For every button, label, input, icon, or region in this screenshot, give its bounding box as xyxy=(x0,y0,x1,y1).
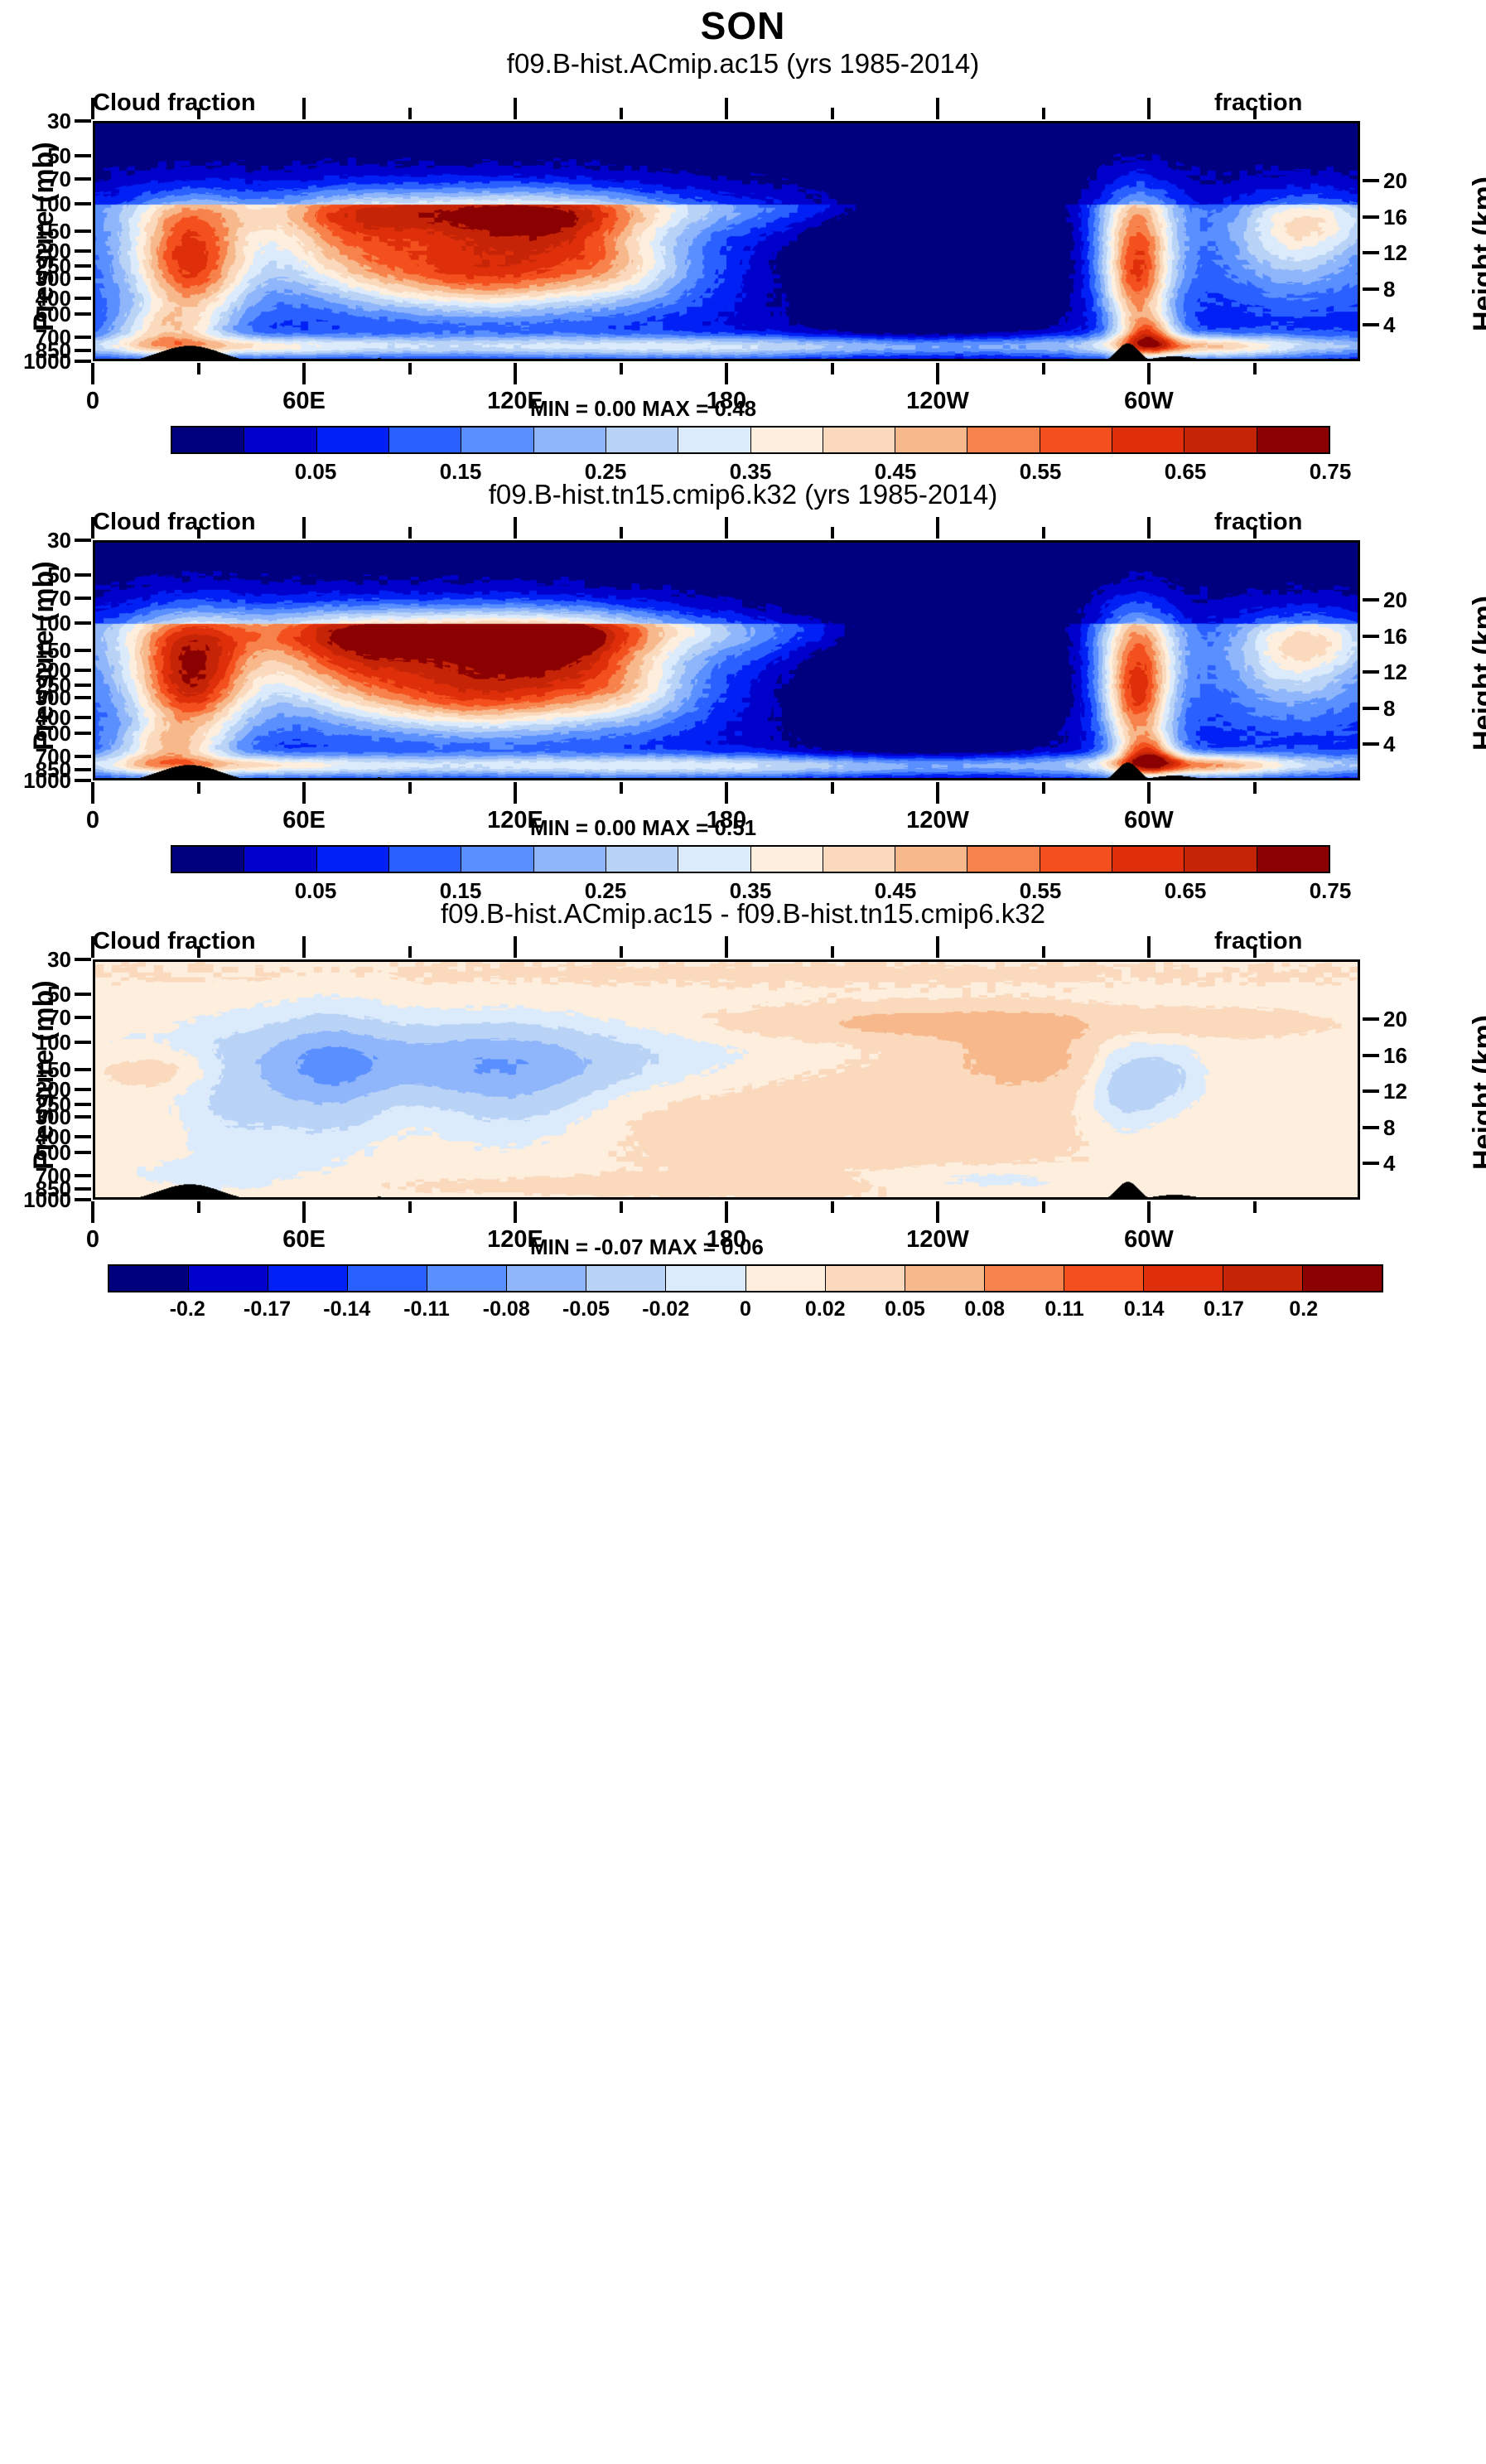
y-tick-mark xyxy=(75,119,91,123)
x-minor-tick-top xyxy=(620,527,623,539)
y-tick-mark xyxy=(75,177,91,181)
y-tick-label: 50 xyxy=(0,145,71,167)
x-minor-tick-top xyxy=(197,946,200,958)
x-tick-mark-top xyxy=(91,936,94,958)
colorbar-segment xyxy=(751,428,823,452)
x-tick-mark-top xyxy=(725,936,728,958)
colorbar-segment xyxy=(751,847,823,872)
colorbar-segment xyxy=(317,428,389,452)
x-tick-label: 120W xyxy=(880,807,996,834)
y-tick-label: 1000 xyxy=(0,350,71,372)
y2-tick-mark xyxy=(1363,742,1379,746)
x-minor-tick xyxy=(831,363,834,374)
panel-3-title: f09.B-hist.ACmip.ac15 - f09.B-hist.tn15.… xyxy=(0,898,1486,930)
panel-1-y2-axis-label: Height (km) xyxy=(1468,176,1486,331)
y-tick-mark xyxy=(75,696,91,699)
x-minor-tick xyxy=(831,782,834,794)
y-tick-label: 50 xyxy=(0,564,71,586)
y2-tick-mark xyxy=(1363,287,1379,291)
y2-tick-label: 20 xyxy=(1383,1008,1407,1030)
panel-3-contour-canvas xyxy=(95,962,1358,1197)
x-minor-tick-top xyxy=(831,527,834,539)
y-tick-mark xyxy=(75,1198,91,1201)
colorbar-segment xyxy=(1303,1266,1382,1291)
y2-tick-mark xyxy=(1363,323,1379,326)
y2-tick-label: 16 xyxy=(1383,626,1407,647)
colorbar-segment xyxy=(905,1266,985,1291)
y2-tick-mark xyxy=(1363,598,1379,602)
y-tick-label: 30 xyxy=(0,949,71,970)
y-tick-mark xyxy=(75,1151,91,1154)
panel-1-title: f09.B-hist.ACmip.ac15 (yrs 1985-2014) xyxy=(0,48,1486,80)
y-tick-mark xyxy=(75,1103,91,1106)
y-tick-label: 100 xyxy=(0,193,71,215)
y2-tick-mark xyxy=(1363,1017,1379,1021)
y-tick-mark xyxy=(75,539,91,542)
x-tick-mark-top xyxy=(514,98,517,119)
colorbar-segment xyxy=(427,1266,507,1291)
x-minor-tick-top xyxy=(831,946,834,958)
x-tick-mark-top xyxy=(514,936,517,958)
x-tick-mark xyxy=(1147,1201,1151,1223)
x-tick-label: 120W xyxy=(880,1226,996,1254)
panel-3-units-label: fraction xyxy=(1214,928,1302,955)
y-tick-mark xyxy=(75,649,91,652)
colorbar-segment xyxy=(1040,428,1112,452)
y2-tick-label: 12 xyxy=(1383,661,1407,683)
y-tick-mark xyxy=(75,249,91,253)
x-tick-mark-top xyxy=(91,517,94,539)
colorbar-segment xyxy=(967,847,1040,872)
y2-tick-label: 16 xyxy=(1383,1045,1407,1066)
x-minor-tick-top xyxy=(1042,527,1045,539)
y-tick-mark xyxy=(75,1041,91,1044)
y-tick-mark xyxy=(75,597,91,600)
y-tick-mark xyxy=(75,621,91,625)
y-tick-label: 30 xyxy=(0,110,71,132)
x-tick-mark-top xyxy=(936,517,939,539)
colorbar-tick-label: 0 xyxy=(740,1297,751,1321)
panel-2-units-label: fraction xyxy=(1214,509,1302,536)
x-tick-mark-top xyxy=(302,936,306,958)
colorbar-segment xyxy=(1257,847,1329,872)
y-tick-mark xyxy=(75,716,91,719)
y-tick-mark xyxy=(75,993,91,996)
colorbar-segment xyxy=(606,428,678,452)
y-tick-label: 500 xyxy=(0,722,71,744)
colorbar-segment xyxy=(268,1266,348,1291)
x-tick-label: 60W xyxy=(1091,388,1207,415)
x-tick-mark xyxy=(936,363,939,384)
colorbar-segment xyxy=(678,428,750,452)
y-tick-mark xyxy=(75,277,91,280)
y-tick-mark xyxy=(75,1016,91,1019)
x-minor-tick-top xyxy=(620,108,623,119)
y2-tick-mark xyxy=(1363,635,1379,638)
y-tick-mark xyxy=(75,1187,91,1191)
colorbar-tick-label: 0.14 xyxy=(1124,1297,1165,1321)
colorbar-segment xyxy=(189,1266,268,1291)
colorbar-tick-label: -0.08 xyxy=(483,1297,530,1321)
colorbar-segment xyxy=(1112,847,1184,872)
x-tick-mark xyxy=(302,1201,306,1223)
x-minor-tick-top xyxy=(197,527,200,539)
panel-2-title: f09.B-hist.tn15.cmip6.k32 (yrs 1985-2014… xyxy=(0,479,1486,510)
x-tick-mark xyxy=(514,1201,517,1223)
y2-tick-label: 8 xyxy=(1383,1117,1395,1138)
x-minor-tick xyxy=(197,782,200,794)
y-tick-mark xyxy=(75,336,91,339)
panel-3-plot-area[interactable] xyxy=(93,959,1360,1200)
colorbar-segment xyxy=(1184,847,1257,872)
x-tick-label: 60E xyxy=(246,1226,362,1254)
x-tick-label: 0 xyxy=(35,388,151,415)
x-tick-label: 60W xyxy=(1091,1226,1207,1254)
y-tick-mark xyxy=(75,229,91,233)
panel-2-contour-canvas xyxy=(95,543,1358,778)
x-tick-label: 0 xyxy=(35,1226,151,1254)
x-tick-mark-top xyxy=(725,98,728,119)
y2-tick-label: 12 xyxy=(1383,1080,1407,1102)
x-tick-label: 0 xyxy=(35,807,151,834)
x-minor-tick xyxy=(408,1201,412,1213)
y-tick-label: 1000 xyxy=(0,1189,71,1210)
x-tick-mark xyxy=(302,363,306,384)
colorbar-segment xyxy=(823,428,895,452)
x-tick-mark xyxy=(725,782,728,804)
y-tick-mark xyxy=(75,1088,91,1091)
y-tick-mark xyxy=(75,768,91,771)
x-tick-label: 60E xyxy=(246,807,362,834)
colorbar-segment xyxy=(109,1266,189,1291)
figure-title: SON xyxy=(0,3,1486,48)
x-minor-tick-top xyxy=(1253,527,1257,539)
y-tick-mark xyxy=(75,202,91,205)
panel-3-colorbar[interactable] xyxy=(108,1264,1383,1292)
y2-tick-label: 16 xyxy=(1383,206,1407,228)
y2-tick-label: 4 xyxy=(1383,733,1395,755)
colorbar-tick-label: 0.05 xyxy=(885,1297,925,1321)
x-minor-tick xyxy=(1042,782,1045,794)
colorbar-segment xyxy=(461,847,533,872)
x-tick-mark-top xyxy=(91,98,94,119)
y-tick-mark xyxy=(75,684,91,687)
colorbar-segment xyxy=(678,847,750,872)
x-tick-mark xyxy=(91,782,94,804)
panel-3-colorbar-labels: -0.2-0.17-0.14-0.11-0.08-0.05-0.0200.020… xyxy=(108,1297,1383,1324)
y-tick-label: 70 xyxy=(0,1007,71,1028)
colorbar-segment xyxy=(895,847,967,872)
y-tick-mark xyxy=(75,1174,91,1177)
y-tick-label: 1000 xyxy=(0,770,71,791)
panel-2-plot-area[interactable] xyxy=(93,540,1360,780)
x-tick-label: 60W xyxy=(1091,807,1207,834)
y2-tick-label: 20 xyxy=(1383,170,1407,191)
x-minor-tick-top xyxy=(1042,108,1045,119)
x-tick-mark-top xyxy=(725,517,728,539)
panel-3-y2-axis-label: Height (km) xyxy=(1468,1015,1486,1170)
y2-tick-mark xyxy=(1363,670,1379,674)
x-minor-tick-top xyxy=(831,108,834,119)
panel-1-variable-label: Cloud fraction xyxy=(93,89,256,117)
x-minor-tick xyxy=(408,363,412,374)
y-tick-label: 100 xyxy=(0,1031,71,1053)
y-tick-mark xyxy=(75,958,91,961)
y-tick-mark xyxy=(75,297,91,300)
colorbar-segment xyxy=(666,1266,745,1291)
x-tick-mark-top xyxy=(1147,517,1151,539)
x-minor-tick-top xyxy=(408,108,412,119)
panel-2-y2-axis-label: Height (km) xyxy=(1468,596,1486,751)
colorbar-segment xyxy=(826,1266,905,1291)
colorbar-segment xyxy=(244,428,316,452)
x-tick-mark xyxy=(514,363,517,384)
colorbar-segment xyxy=(534,847,606,872)
x-minor-tick-top xyxy=(408,527,412,539)
y2-tick-label: 4 xyxy=(1383,314,1395,336)
y2-tick-mark xyxy=(1363,1054,1379,1057)
colorbar-segment xyxy=(985,1266,1064,1291)
panel-1-minmax: MIN = 0.00 MAX = 0.48 xyxy=(530,396,756,422)
x-minor-tick-top xyxy=(1253,108,1257,119)
y2-tick-mark xyxy=(1363,251,1379,254)
x-minor-tick xyxy=(197,363,200,374)
panel-3-minmax: MIN = -0.07 MAX = 0.06 xyxy=(530,1234,764,1260)
x-minor-tick xyxy=(197,1201,200,1213)
colorbar-segment xyxy=(244,847,316,872)
x-minor-tick-top xyxy=(408,946,412,958)
x-tick-mark xyxy=(91,1201,94,1223)
colorbar-segment xyxy=(1144,1266,1223,1291)
y2-tick-mark xyxy=(1363,1089,1379,1093)
panel-3-variable-label: Cloud fraction xyxy=(93,928,256,955)
y-tick-mark xyxy=(75,573,91,577)
x-tick-mark-top xyxy=(302,517,306,539)
colorbar-tick-label: 0.08 xyxy=(964,1297,1005,1321)
x-minor-tick xyxy=(1253,1201,1257,1213)
x-tick-mark xyxy=(1147,363,1151,384)
colorbar-tick-label: 0.02 xyxy=(805,1297,846,1321)
x-tick-mark xyxy=(302,782,306,804)
colorbar-segment xyxy=(1184,428,1257,452)
y-tick-label: 50 xyxy=(0,983,71,1005)
colorbar-tick-label: -0.11 xyxy=(403,1297,450,1321)
y2-tick-mark xyxy=(1363,215,1379,219)
colorbar-tick-label: 0.2 xyxy=(1289,1297,1318,1321)
x-minor-tick xyxy=(620,1201,623,1213)
colorbar-segment xyxy=(606,847,678,872)
colorbar-segment xyxy=(823,847,895,872)
x-minor-tick xyxy=(1042,1201,1045,1213)
x-minor-tick xyxy=(1253,363,1257,374)
x-tick-label: 120W xyxy=(880,388,996,415)
y2-tick-label: 8 xyxy=(1383,698,1395,719)
y-tick-mark xyxy=(75,312,91,316)
x-tick-mark-top xyxy=(302,98,306,119)
colorbar-segment xyxy=(1257,428,1329,452)
y-tick-mark xyxy=(75,1135,91,1138)
x-minor-tick-top xyxy=(1042,946,1045,958)
x-minor-tick xyxy=(620,363,623,374)
colorbar-segment xyxy=(746,1266,826,1291)
colorbar-segment xyxy=(1064,1266,1144,1291)
x-minor-tick-top xyxy=(1253,946,1257,958)
y2-tick-label: 8 xyxy=(1383,278,1395,300)
x-minor-tick-top xyxy=(197,108,200,119)
colorbar-segment xyxy=(317,847,389,872)
panel-2-minmax: MIN = 0.00 MAX = 0.51 xyxy=(530,815,756,841)
x-minor-tick xyxy=(1042,363,1045,374)
panel-2-colorbar[interactable] xyxy=(171,845,1330,873)
x-tick-mark xyxy=(1147,782,1151,804)
colorbar-segment xyxy=(1040,847,1112,872)
y-tick-label: 70 xyxy=(0,587,71,609)
x-tick-mark-top xyxy=(936,936,939,958)
y-tick-mark xyxy=(75,669,91,672)
x-tick-mark xyxy=(91,363,94,384)
y-tick-mark xyxy=(75,154,91,157)
colorbar-segment xyxy=(348,1266,427,1291)
y-tick-mark xyxy=(75,349,91,352)
colorbar-segment xyxy=(389,428,461,452)
y-tick-mark xyxy=(75,755,91,758)
colorbar-tick-label: -0.02 xyxy=(642,1297,689,1321)
x-minor-tick xyxy=(408,782,412,794)
x-tick-mark-top xyxy=(936,98,939,119)
colorbar-tick-label: -0.2 xyxy=(170,1297,205,1321)
colorbar-tick-label: 0.11 xyxy=(1045,1297,1083,1321)
colorbar-segment xyxy=(967,428,1040,452)
y-tick-mark xyxy=(75,1115,91,1118)
panel-2-variable-label: Cloud fraction xyxy=(93,509,256,536)
y-tick-label: 100 xyxy=(0,612,71,634)
x-tick-mark xyxy=(936,782,939,804)
colorbar-segment xyxy=(389,847,461,872)
x-tick-label: 60E xyxy=(246,388,362,415)
colorbar-tick-label: 0.17 xyxy=(1204,1297,1244,1321)
x-tick-mark-top xyxy=(1147,936,1151,958)
panel-1-units-label: fraction xyxy=(1214,89,1302,117)
x-tick-mark xyxy=(725,363,728,384)
y-tick-label: 70 xyxy=(0,168,71,190)
x-tick-mark-top xyxy=(514,517,517,539)
panel-1-contour-canvas xyxy=(95,123,1358,359)
y-tick-mark xyxy=(75,360,91,363)
x-tick-mark-top xyxy=(1147,98,1151,119)
y-tick-mark xyxy=(75,264,91,268)
y2-tick-mark xyxy=(1363,1162,1379,1165)
y2-tick-label: 4 xyxy=(1383,1152,1395,1174)
x-minor-tick-top xyxy=(620,946,623,958)
colorbar-tick-label: -0.14 xyxy=(323,1297,370,1321)
panel-1-plot-area[interactable] xyxy=(93,121,1360,361)
x-tick-mark xyxy=(514,782,517,804)
y2-tick-label: 12 xyxy=(1383,242,1407,263)
x-tick-mark xyxy=(936,1201,939,1223)
y2-tick-mark xyxy=(1363,1126,1379,1129)
colorbar-segment xyxy=(172,428,244,452)
colorbar-segment xyxy=(172,847,244,872)
colorbar-tick-label: -0.17 xyxy=(244,1297,291,1321)
y-tick-label: 500 xyxy=(0,303,71,325)
y-tick-mark xyxy=(75,779,91,782)
colorbar-tick-label: -0.05 xyxy=(562,1297,610,1321)
colorbar-segment xyxy=(534,428,606,452)
colorbar-segment xyxy=(1223,1266,1303,1291)
y-tick-label: 30 xyxy=(0,529,71,551)
panel-1-colorbar[interactable] xyxy=(171,426,1330,454)
y-tick-mark xyxy=(75,732,91,735)
x-minor-tick xyxy=(831,1201,834,1213)
y-tick-label: 500 xyxy=(0,1142,71,1163)
y2-tick-mark xyxy=(1363,179,1379,182)
y-tick-mark xyxy=(75,1068,91,1071)
colorbar-segment xyxy=(1112,428,1184,452)
colorbar-segment xyxy=(507,1266,586,1291)
y2-tick-mark xyxy=(1363,707,1379,710)
x-minor-tick xyxy=(620,782,623,794)
x-tick-mark xyxy=(725,1201,728,1223)
colorbar-segment xyxy=(895,428,967,452)
y2-tick-label: 20 xyxy=(1383,589,1407,611)
colorbar-segment xyxy=(461,428,533,452)
x-minor-tick xyxy=(1253,782,1257,794)
colorbar-segment xyxy=(586,1266,666,1291)
